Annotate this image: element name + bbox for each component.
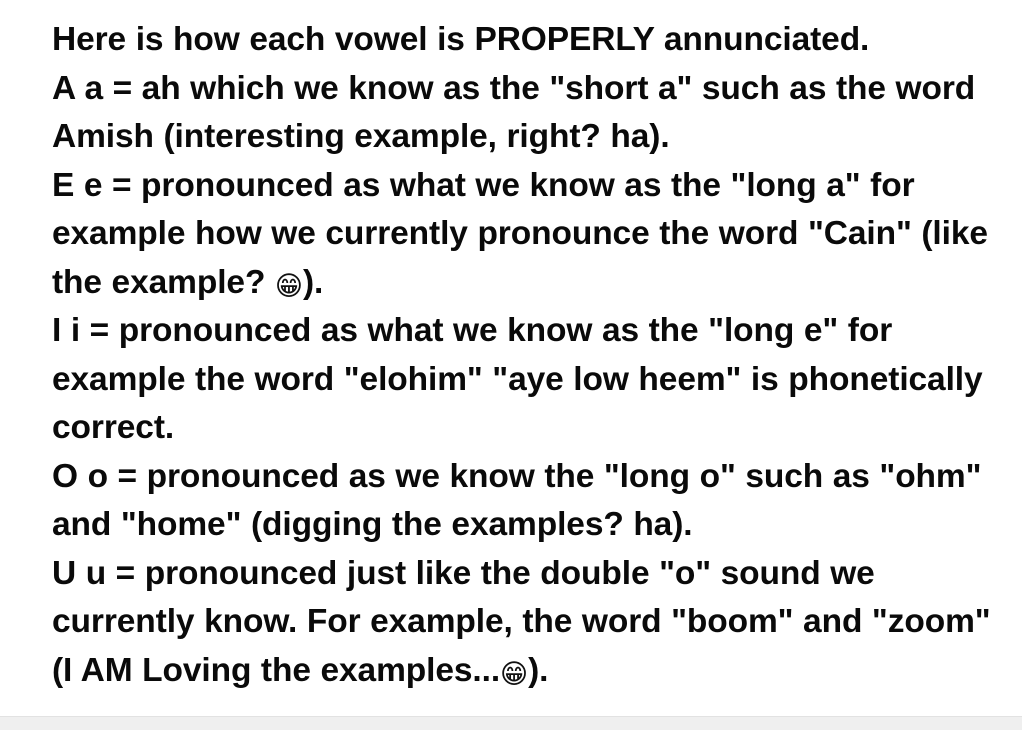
vowel-entry-u-tail: ). [528,652,548,689]
heading-line: Here is how each vowel is PROPERLY annun… [52,16,1002,65]
vowel-entry-i-text: I i = pronounced as what we know as the … [52,312,992,446]
vowel-entry-i: I i = pronounced as what we know as the … [52,307,1002,453]
vowel-entry-e-tail: ). [303,264,323,301]
vowel-entry-u: U u = pronounced just like the double "o… [52,550,1002,696]
footer-divider [0,716,1022,730]
vowel-entry-e: E e = pronounced as what we know as the … [52,162,1002,308]
vowel-entry-a: A a = ah which we know as the "short a" … [52,65,1002,162]
page-root: Here is how each vowel is PROPERLY annun… [0,0,1022,729]
grinning-face-with-smiling-eyes-icon: 😁 [500,661,528,688]
post-body: Here is how each vowel is PROPERLY annun… [52,16,1002,695]
vowel-entry-a-text: A a = ah which we know as the "short a" … [52,70,984,156]
grinning-face-with-smiling-eyes-icon: 😁 [275,273,303,300]
vowel-entry-o: O o = pronounced as we know the "long o"… [52,453,1002,550]
vowel-entry-e-text: E e = pronounced as what we know as the … [52,167,998,301]
vowel-entry-o-text: O o = pronounced as we know the "long o"… [52,458,991,544]
